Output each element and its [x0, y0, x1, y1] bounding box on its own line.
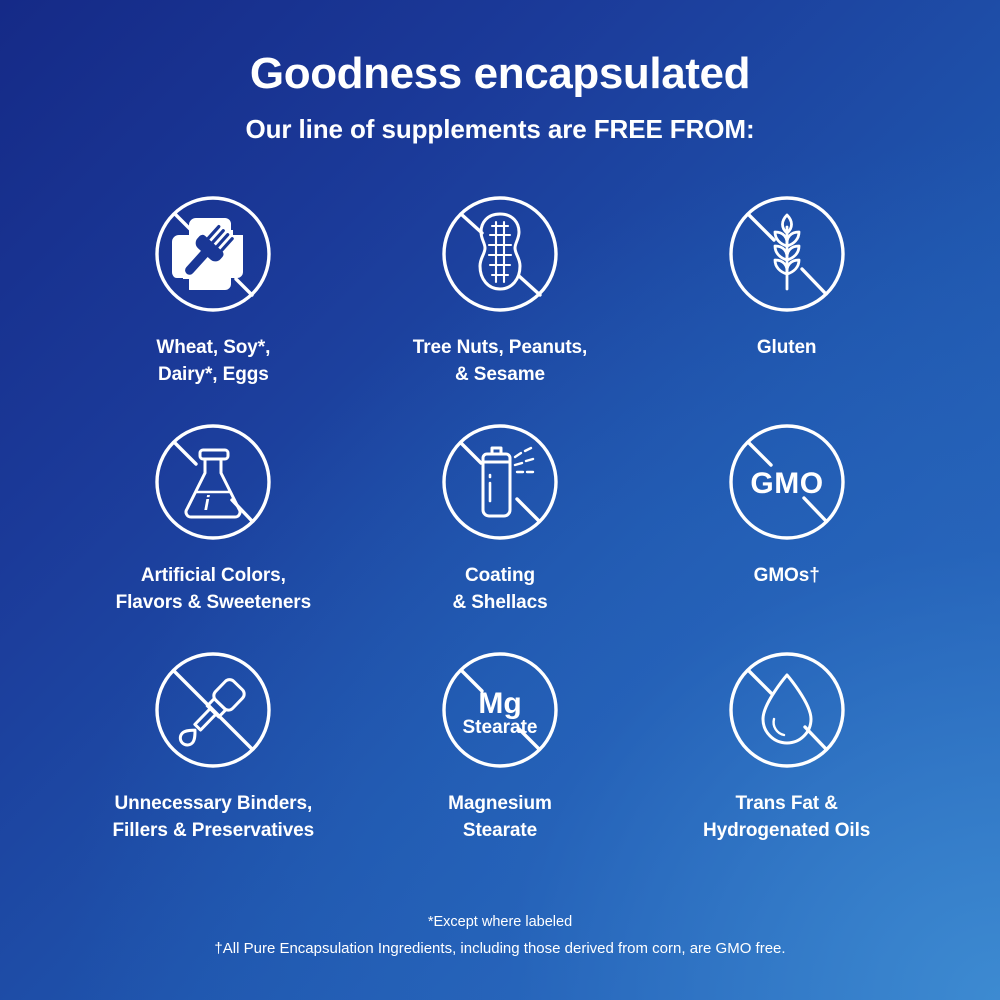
free-from-infographic: Goodness encapsulated Our line of supple…	[0, 0, 1000, 1000]
free-from-label: Wheat, Soy*, Dairy*, Eggs	[156, 335, 270, 389]
no-dropper-icon	[148, 645, 278, 775]
no-peanut-icon	[435, 189, 565, 319]
svg-text:i: i	[204, 493, 210, 515]
free-from-item: i Artificial Colors, Flavors & Sweetener…	[70, 417, 357, 645]
free-from-item: Mg Stearate Magnesium Stearate	[357, 645, 644, 873]
no-gmo-icon: GMO	[722, 417, 852, 547]
free-from-label: Coating & Shellacs	[452, 563, 547, 617]
free-from-label: Artificial Colors, Flavors & Sweeteners	[116, 563, 311, 617]
no-spray-can-icon	[435, 417, 565, 547]
free-from-item: Tree Nuts, Peanuts, & Sesame	[357, 189, 644, 417]
page-title: Goodness encapsulated	[0, 50, 1000, 98]
free-from-label: Tree Nuts, Peanuts, & Sesame	[413, 335, 587, 389]
free-from-item: Gluten	[643, 189, 930, 417]
free-from-item: GMO GMOs†	[643, 417, 930, 645]
free-from-item: Unnecessary Binders, Fillers & Preservat…	[70, 645, 357, 873]
free-from-item: Coating & Shellacs	[357, 417, 644, 645]
header: Goodness encapsulated Our line of supple…	[0, 0, 1000, 145]
free-from-label: Magnesium Stearate	[448, 791, 552, 845]
page-subtitle: Our line of supplements are FREE FROM:	[0, 114, 1000, 145]
free-from-item: Trans Fat & Hydrogenated Oils	[643, 645, 930, 873]
footnote-asterisk: *Except where labeled	[0, 911, 1000, 935]
footnotes: *Except where labeled †All Pure Encapsul…	[0, 911, 1000, 962]
no-flask-icon: i	[148, 417, 278, 547]
no-wheat-stalk-icon	[722, 189, 852, 319]
mg-icon-text: Mg	[478, 687, 521, 720]
free-from-item: Wheat, Soy*, Dairy*, Eggs	[70, 189, 357, 417]
free-from-label: Unnecessary Binders, Fillers & Preservat…	[113, 791, 315, 845]
free-from-label: GMOs†	[754, 563, 820, 590]
free-from-label: Gluten	[757, 335, 817, 362]
no-magnesium-stearate-icon: Mg Stearate	[435, 645, 565, 775]
footnote-dagger: †All Pure Encapsulation Ingredients, inc…	[0, 937, 1000, 962]
free-from-label: Trans Fat & Hydrogenated Oils	[703, 791, 870, 845]
no-oil-droplet-icon	[722, 645, 852, 775]
gmo-icon-text: GMO	[750, 467, 823, 500]
free-from-grid: Wheat, Soy*, Dairy*, Eggs Tree Nuts, Pea…	[70, 189, 930, 873]
no-cross-fork-icon	[148, 189, 278, 319]
